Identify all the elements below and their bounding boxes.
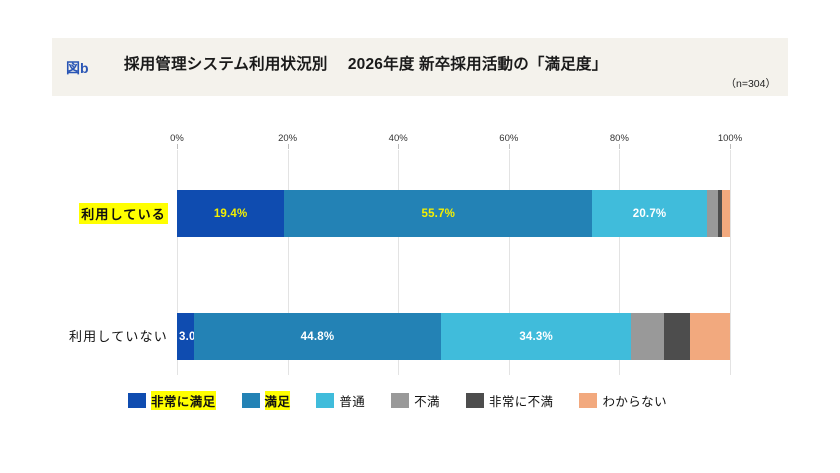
legend-label: 非常に不満 <box>489 391 554 410</box>
legend-swatch-icon <box>579 393 597 408</box>
stacked-bar-chart: 利用している 利用していない 0%20%40%60%80%100% 19.4%5… <box>0 0 840 473</box>
x-tick-label: 80% <box>610 133 629 144</box>
bar-segment: 20.7% <box>592 190 706 237</box>
legend-item[interactable]: わからない <box>579 391 667 410</box>
legend-label: 非常に満足 <box>151 391 216 410</box>
x-tick-mark <box>288 144 289 149</box>
legend-item[interactable]: 非常に満足 <box>128 391 216 410</box>
bar-segment <box>707 190 718 237</box>
x-tick-mark <box>730 144 731 149</box>
x-tick-mark <box>177 144 178 149</box>
bar-segment <box>722 190 730 237</box>
bar-segment-value-label: 55.7% <box>421 208 455 220</box>
x-tick-mark <box>509 144 510 149</box>
gridline <box>730 150 731 375</box>
legend-item[interactable]: 満足 <box>242 391 291 410</box>
legend-label: 普通 <box>339 391 365 410</box>
x-tick-mark <box>619 144 620 149</box>
x-tick-label: 20% <box>278 133 297 144</box>
legend-label: 不満 <box>414 391 440 410</box>
x-tick-label: 100% <box>718 133 742 144</box>
legend-swatch-icon <box>128 393 146 408</box>
category-label-row-0: 利用している <box>0 203 168 225</box>
legend-item[interactable]: 非常に不満 <box>466 391 554 410</box>
category-label-1: 利用していない <box>69 326 168 345</box>
bar-row: 19.4%55.7%20.7% <box>177 190 730 237</box>
bar-segment-value-label: 20.7% <box>633 208 667 220</box>
x-tick-label: 60% <box>499 133 518 144</box>
bar-segment: 3.0% <box>177 313 194 360</box>
bar-segment-value-label: 34.3% <box>519 331 553 343</box>
legend-swatch-icon <box>466 393 484 408</box>
legend-item[interactable]: 普通 <box>316 391 365 410</box>
x-tick-label: 40% <box>389 133 408 144</box>
legend-label: わからない <box>602 391 667 410</box>
bar-segment-value-label: 44.8% <box>301 331 335 343</box>
legend-swatch-icon <box>316 393 334 408</box>
category-label-0: 利用している <box>79 203 168 224</box>
bar-segment <box>690 313 730 360</box>
bar-segment <box>664 313 690 360</box>
category-label-row-1: 利用していない <box>0 326 168 348</box>
chart-legend: 非常に満足満足普通不満非常に不満わからない <box>128 391 693 410</box>
bar-segment: 44.8% <box>194 313 442 360</box>
bar-segment-value-label: 19.4% <box>214 208 248 220</box>
x-tick-label: 0% <box>170 133 184 144</box>
bar-segment: 34.3% <box>441 313 631 360</box>
plot-area: 0%20%40%60%80%100% 19.4%55.7%20.7% 3.0%4… <box>177 150 730 375</box>
legend-swatch-icon <box>242 393 260 408</box>
bar-segment: 55.7% <box>284 190 592 237</box>
legend-item[interactable]: 不満 <box>391 391 440 410</box>
bar-row: 3.0%44.8%34.3% <box>177 313 730 360</box>
legend-swatch-icon <box>391 393 409 408</box>
bar-segment: 19.4% <box>177 190 284 237</box>
bar-segment <box>631 313 664 360</box>
legend-label: 満足 <box>265 391 291 410</box>
x-tick-mark <box>398 144 399 149</box>
